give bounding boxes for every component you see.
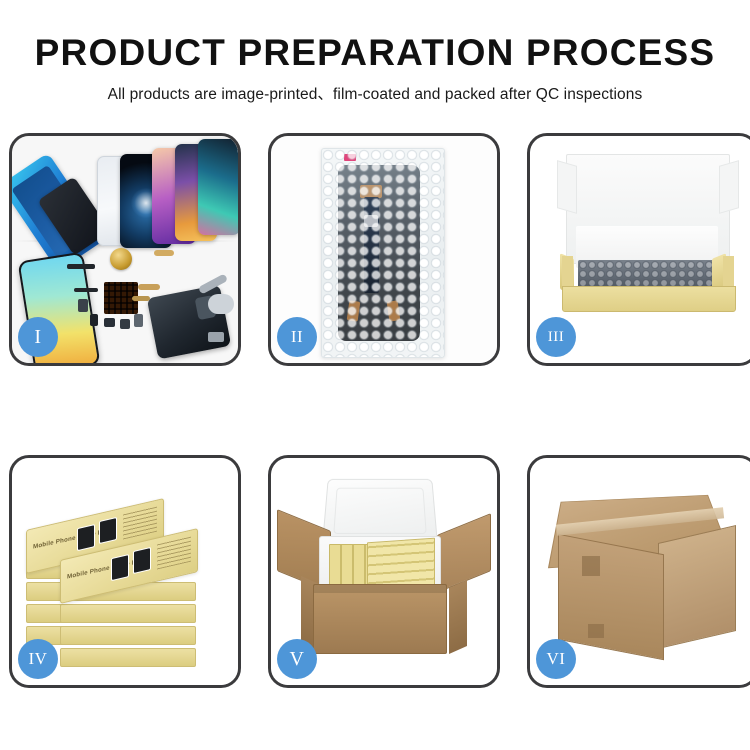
kraft-tray-box-icon xyxy=(562,286,736,312)
step-badge-2: II xyxy=(277,317,317,357)
flex-cable-icon xyxy=(138,284,160,290)
small-part-icon xyxy=(120,319,130,329)
process-step-panel-6[interactable]: VI xyxy=(527,455,750,688)
process-step-panel-1[interactable]: I xyxy=(9,133,241,366)
spec-lines-icon xyxy=(157,536,191,570)
screw-set-icon xyxy=(208,332,224,342)
carton-tab-icon xyxy=(588,624,604,638)
carton-front-icon xyxy=(558,534,664,661)
step-badge-5: V xyxy=(277,639,317,679)
step-badge-3: III xyxy=(536,317,576,357)
process-step-grid: I II xyxy=(0,133,750,688)
page-subtitle: All products are image-printed、film-coat… xyxy=(0,82,750,104)
flex-cable-icon xyxy=(364,197,379,293)
small-part-icon xyxy=(134,314,143,327)
foam-box-lid-icon xyxy=(322,479,438,545)
page-header: PRODUCT PREPARATION PROCESS All products… xyxy=(0,0,750,104)
earpiece-part-icon xyxy=(67,264,95,269)
carton-edge-right-icon xyxy=(449,580,467,654)
carton-side-icon xyxy=(658,525,736,649)
repair-tool-icon xyxy=(208,294,234,314)
process-step-panel-3[interactable]: III xyxy=(527,133,750,366)
flex-cable-icon xyxy=(154,250,174,256)
phone-teal-icon xyxy=(198,139,238,235)
bubble-wrap-bag-icon xyxy=(321,148,445,358)
screen-thumbnail-icon xyxy=(133,547,151,574)
step-badge-6: VI xyxy=(536,639,576,679)
driver-ic-icon xyxy=(364,215,378,227)
process-step-panel-4[interactable]: Mobile Phone Spare Parts Mobile Phone Sp… xyxy=(9,455,241,688)
pink-qc-sticker-icon xyxy=(344,154,356,161)
speaker-coil-icon xyxy=(110,248,132,270)
small-part-icon xyxy=(78,299,88,312)
spec-lines-icon xyxy=(123,506,157,540)
flex-cable-icon xyxy=(132,296,150,301)
small-part-icon xyxy=(104,318,115,327)
box-stack: Mobile Phone Spare Parts Mobile Phone Sp… xyxy=(20,476,236,672)
step-badge-1: I xyxy=(18,317,58,357)
process-step-panel-2[interactable]: II xyxy=(268,133,500,366)
outer-carton-icon xyxy=(313,584,447,654)
process-step-panel-5[interactable]: V xyxy=(268,455,500,688)
step-badge-4: IV xyxy=(18,639,58,679)
small-part-icon xyxy=(74,288,98,292)
box-rim-icon xyxy=(562,256,734,288)
screen-thumbnail-icon xyxy=(111,554,129,581)
screen-thumbnail-icon xyxy=(99,517,117,544)
carton-tab-icon xyxy=(582,556,600,576)
small-part-icon xyxy=(90,314,98,326)
screen-thumbnail-icon xyxy=(77,524,95,551)
page-title: PRODUCT PREPARATION PROCESS xyxy=(0,34,750,73)
